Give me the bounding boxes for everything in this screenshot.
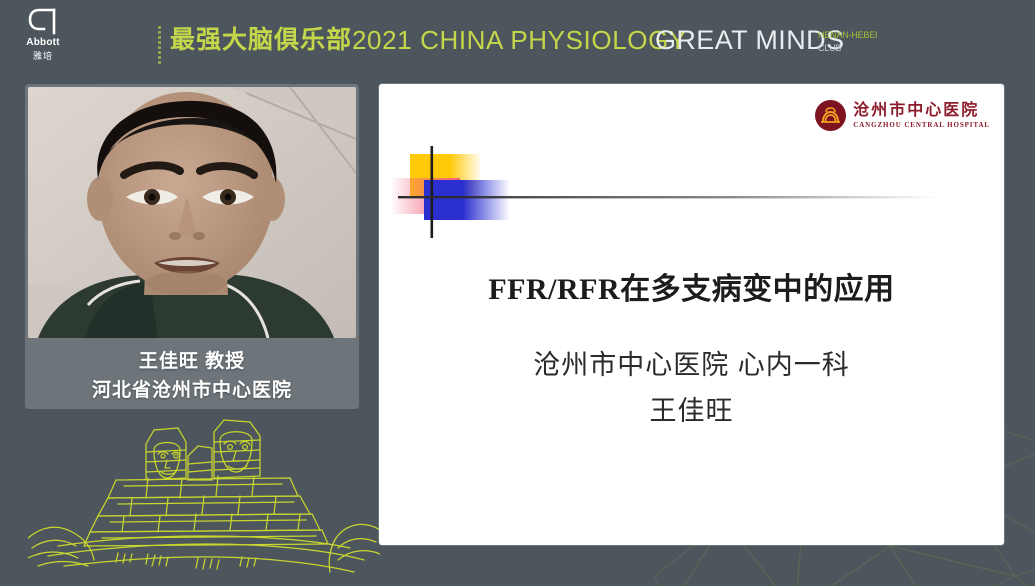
page-header: Abbott 雅培 最强大脑俱乐部 2021 CHINA PHYSIOLOGY …: [0, 0, 1035, 76]
slide-title: FFR/RFR在多支病变中的应用: [379, 264, 1004, 308]
speaker-video-panel[interactable]: 王佳旺 教授 河北省沧州市中心医院: [25, 84, 359, 409]
dotted-divider-icon: [158, 26, 161, 64]
club-badge-line2: CLUB: [818, 43, 877, 54]
hospital-name-en: CANGZHOU CENTRAL HOSPITAL: [853, 122, 990, 129]
cangzhou-hospital-emblem-icon: [815, 100, 846, 131]
abbott-sponsor-logo: Abbott 雅培: [20, 7, 66, 67]
mondrian-squares-crosshair-graphic: [390, 146, 950, 238]
speaker-nameplate: 王佳旺 教授 河北省沧州市中心医院: [25, 338, 359, 409]
club-badge-line1: HENAN-HEBEI: [818, 30, 877, 41]
slide-subtitle-line2: 王佳旺: [379, 388, 1004, 434]
slide-subtitle-line1: 沧州市中心医院 心内一科: [533, 350, 850, 380]
hospital-name-cn: 沧州市中心医院: [853, 103, 990, 119]
slide-subtitle: 沧州市中心医院 心内一科 王佳旺: [379, 342, 1004, 434]
presentation-stage: Abbott 雅培 最强大脑俱乐部 2021 CHINA PHYSIOLOGY …: [0, 0, 1035, 586]
club-badge: HENAN-HEBEI CLUB: [818, 30, 877, 54]
speaker-affiliation: 河北省沧州市中心医院: [92, 375, 292, 402]
speaker-name: 王佳旺 教授: [139, 346, 245, 373]
event-series-title: GREAT MINDS: [655, 24, 844, 56]
presentation-slide[interactable]: 沧州市中心医院 CANGZHOU CENTRAL HOSPITAL: [379, 84, 1004, 545]
event-title-cn: 最强大脑俱乐部: [170, 25, 352, 55]
abbott-a-logo-icon: [28, 7, 58, 35]
event-title-en: 2021 CHINA PHYSIOLOGY: [352, 25, 687, 55]
speaker-webcam-feed[interactable]: [28, 87, 356, 338]
temple-statue-line-art: [28, 414, 380, 586]
abbott-wordmark: Abbott: [26, 37, 59, 48]
abbott-wordmark-cn: 雅培: [33, 49, 53, 62]
hospital-logo: 沧州市中心医院 CANGZHOU CENTRAL HOSPITAL: [815, 100, 990, 131]
